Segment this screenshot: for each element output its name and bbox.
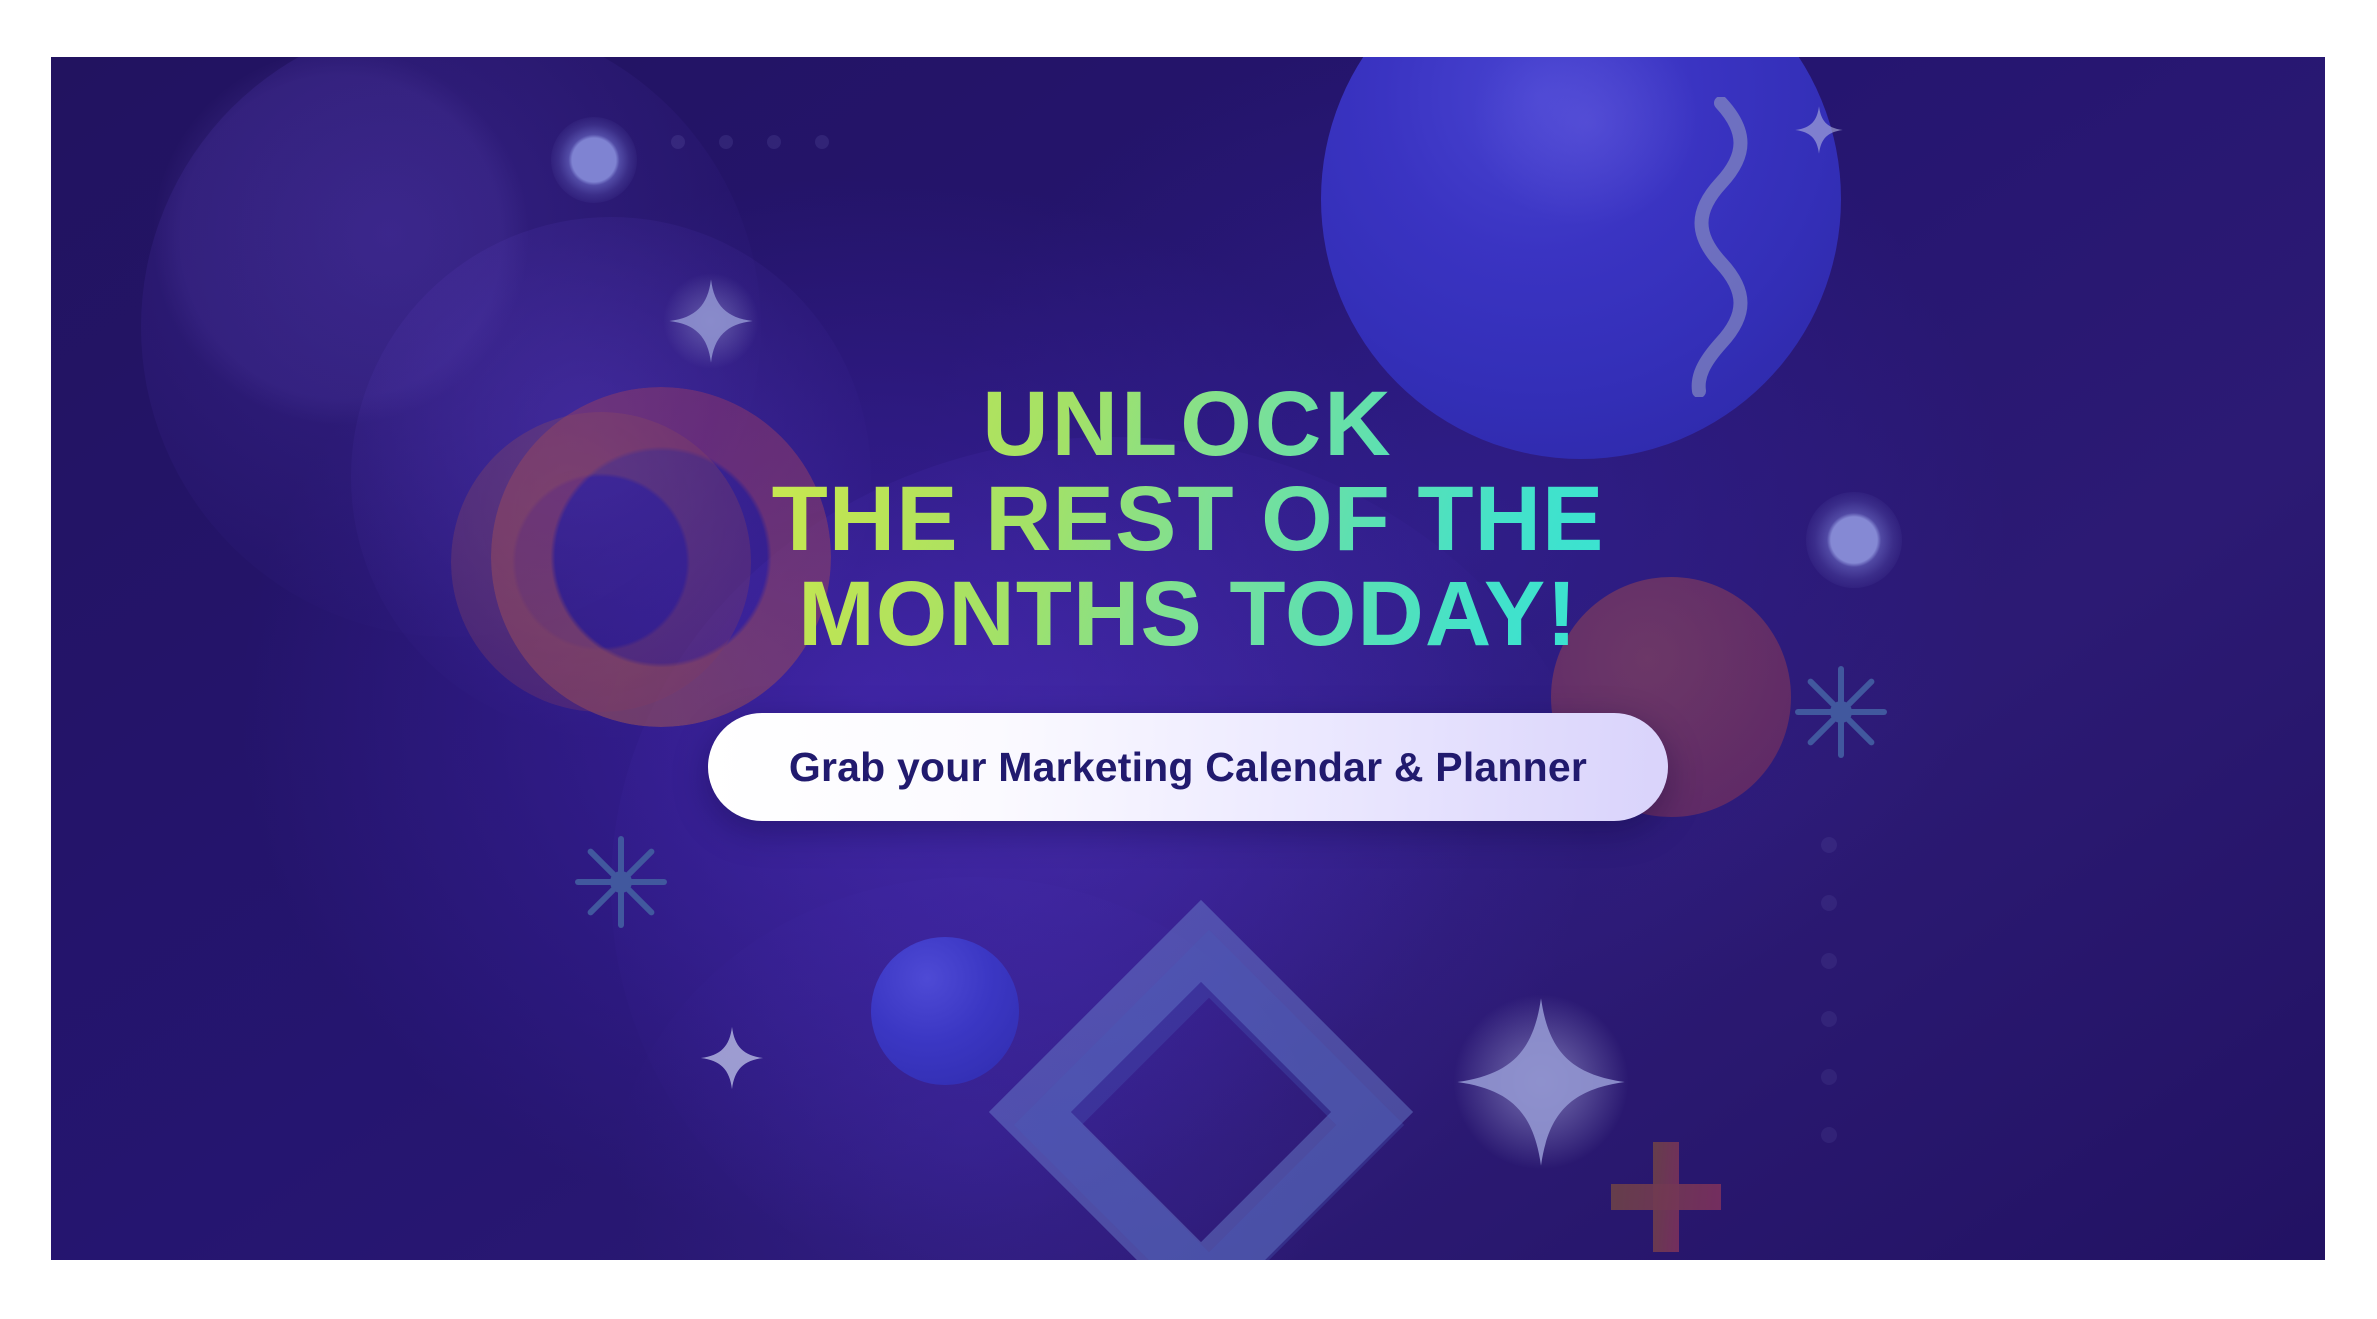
cta-container: Grab your Marketing Calendar & Planner — [51, 713, 2325, 821]
headline-line-1: UNLOCK — [772, 377, 1605, 472]
grab-calendar-planner-button[interactable]: Grab your Marketing Calendar & Planner — [708, 713, 1668, 821]
page-root: UNLOCK THE REST OF THE MONTHS TODAY! Gra… — [0, 0, 2377, 1319]
headline-line-3: MONTHS TODAY! — [772, 567, 1605, 662]
headline-line-2: THE REST OF THE — [772, 472, 1605, 567]
promo-banner: UNLOCK THE REST OF THE MONTHS TODAY! Gra… — [51, 57, 2325, 1260]
page-title: UNLOCK THE REST OF THE MONTHS TODAY! — [772, 377, 1605, 661]
banner-content: UNLOCK THE REST OF THE MONTHS TODAY! Gra… — [51, 57, 2325, 1260]
